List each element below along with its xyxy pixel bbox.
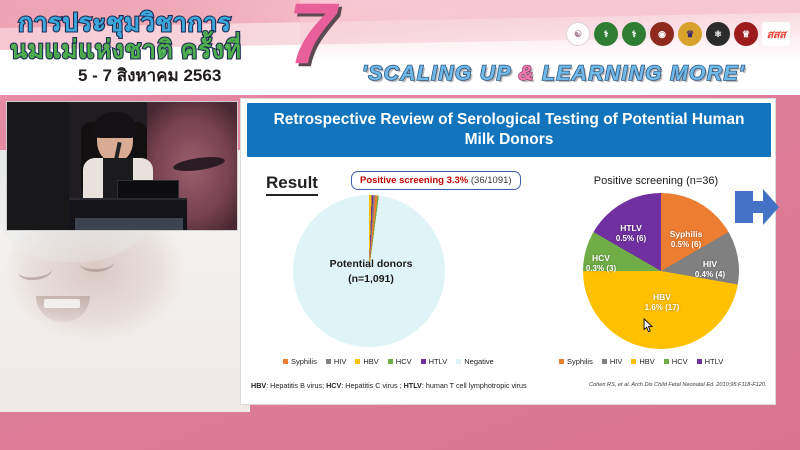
slice-value-hiv: 0.4% (4) [681, 270, 739, 281]
legend-swatch-right-hbv [631, 359, 636, 364]
pie-slice-label-hiv: HIV 0.4% (4) [681, 259, 739, 281]
legend-swatch-right-htlv [697, 359, 702, 364]
result-heading: Result [266, 173, 318, 196]
mouse-cursor-icon [643, 318, 654, 333]
legend-swatch-hiv [326, 359, 331, 364]
legend-left-item-negative: Negative [456, 357, 494, 366]
speaker-hair-top [93, 112, 137, 138]
legend-right-label-hcv: HCV [672, 357, 688, 366]
legend-right-item-hcv: HCV [664, 357, 688, 366]
conference-header-banner: การประชุมวิชาการ นมแม่แห่งชาติ ครั้งที่ … [0, 0, 800, 95]
legend-left-item-syphilis: Syphilis [283, 357, 317, 366]
legend-swatch-right-syphilis [559, 359, 564, 364]
legend-swatch-hcv [388, 359, 393, 364]
logo-ministry-of-public-health-2-icon: ⚕ [622, 22, 646, 46]
pie-slice-label-hbv: HBV 1.6% (17) [631, 292, 693, 314]
potential-donors-label-line1: Potential donors [271, 257, 471, 272]
podium-base [75, 218, 183, 231]
legend-right-label-hiv: HIV [610, 357, 623, 366]
sponsor-logo-row: ☯ ⚕ ⚕ ◉ ♛ ⚛ ♕ สสส [566, 22, 790, 46]
slice-value-hcv: 0.3% (3) [575, 264, 627, 275]
legend-left-label-hiv: HIV [334, 357, 347, 366]
positive-screening-pie-chart: Syphilis 0.5% (6) HIV 0.4% (4) HBV 1.6% … [559, 193, 759, 355]
tagline-pre: 'SCALING UP [362, 62, 518, 85]
slice-name-hiv: HIV [681, 259, 739, 270]
presentation-slide: Retrospective Review of Serological Test… [240, 98, 776, 405]
positive-screening-chart-heading: Positive screening (n=36) [541, 175, 771, 187]
logo-university-black-icon: ⚛ [706, 22, 730, 46]
reference-citation: Cohen RS, et al. Arch Dis Child Fetal Ne… [589, 382, 767, 388]
potential-donors-pie-chart: Potential donors (n=1,091) [271, 195, 471, 355]
slice-name-htlv: HTLV [603, 223, 659, 234]
legend-left-item-hiv: HIV [326, 357, 347, 366]
slice-name-hcv: HCV [575, 253, 627, 264]
legend-swatch-hbv [355, 359, 360, 364]
slice-value-hbv: 1.6% (17) [631, 303, 693, 314]
conference-edition-number: 7 [288, 0, 336, 77]
legend-swatch-right-hcv [664, 359, 669, 364]
legend-right-label-htlv: HTLV [705, 357, 724, 366]
legend-left-label-htlv: HTLV [429, 357, 448, 366]
footnote-abbr-htlv: HTLV [404, 381, 422, 390]
conference-date-thai: 5 - 7 สิงหาคม 2563 [78, 62, 221, 89]
speaker-video-panel[interactable] [6, 101, 238, 231]
potential-donors-center-label: Potential donors (n=1,091) [271, 257, 471, 287]
footnote-text-hcv: : Hepatitis C virus ; [341, 381, 403, 390]
potential-donors-label-line2: (n=1,091) [271, 272, 471, 287]
baby-teeth [44, 299, 80, 308]
legend-swatch-right-hiv [602, 359, 607, 364]
legend-left-item-htlv: HTLV [421, 357, 448, 366]
video-backdrop-left [7, 102, 69, 231]
legend-right-item-syphilis: Syphilis [559, 357, 593, 366]
legend-left-label-syphilis: Syphilis [291, 357, 317, 366]
callout-sub-text: (36/1091) [468, 175, 511, 186]
conference-tagline: 'SCALING UP & LEARNING MORE' [362, 62, 745, 86]
footnote-text-hbv: : Hepatitis B virus; [266, 381, 326, 390]
footnote-abbr-hbv: HBV [251, 381, 266, 390]
legend-left-label-hcv: HCV [396, 357, 412, 366]
legend-right-item-htlv: HTLV [697, 357, 724, 366]
baby-eye-right [80, 253, 115, 273]
footnote-abbr-hcv: HCV [326, 381, 341, 390]
abbreviation-footnote: HBV: Hepatitis B virus; HCV: Hepatitis C… [251, 381, 527, 390]
slide-title-bar: Retrospective Review of Serological Test… [247, 103, 771, 157]
legend-swatch-htlv [421, 359, 426, 364]
pie-slice-label-htlv: HTLV 0.5% (6) [603, 223, 659, 245]
callout-highlight-text: Positive screening 3.3% [360, 175, 468, 186]
slide-title: Retrospective Review of Serological Test… [247, 110, 771, 151]
positive-screening-callout: Positive screening 3.3% (36/1091) [351, 171, 521, 190]
legend-right: Syphilis HIV HBV HCV HTLV [559, 357, 723, 366]
logo-royal-emblem-red-icon: ◉ [650, 22, 674, 46]
logo-thai-pediatric-society-icon: ☯ [566, 22, 590, 46]
slice-name-hbv: HBV [631, 292, 693, 303]
legend-left-label-hbv: HBV [363, 357, 378, 366]
legend-right-label-hbv: HBV [639, 357, 654, 366]
slice-name-syphilis: Syphilis [655, 229, 717, 240]
footnote-text-htlv: : human T cell lymphotropic virus [422, 381, 527, 390]
baby-eye-left [17, 260, 53, 281]
legend-swatch-syphilis [283, 359, 288, 364]
legend-right-item-hbv: HBV [631, 357, 654, 366]
legend-left: Syphilis HIV HBV HCV HTLV Negative [283, 357, 494, 366]
video-overlay-face-eye [172, 154, 225, 173]
legend-left-item-hcv: HCV [388, 357, 412, 366]
logo-thaihealth-sss-icon: สสส [762, 22, 790, 46]
legend-left-label-negative: Negative [464, 357, 494, 366]
legend-right-item-hiv: HIV [602, 357, 623, 366]
legend-swatch-negative [456, 359, 461, 364]
slice-value-htlv: 0.5% (6) [603, 234, 659, 245]
logo-royal-crown-gold-icon: ♛ [678, 22, 702, 46]
legend-right-label-syphilis: Syphilis [567, 357, 593, 366]
pie-slice-label-syphilis: Syphilis 0.5% (6) [655, 229, 717, 251]
logo-ministry-of-public-health-1-icon: ⚕ [594, 22, 618, 46]
presentation-screenshot: การประชุมวิชาการ นมแม่แห่งชาติ ครั้งที่ … [0, 0, 800, 450]
tagline-ampersand: & [518, 62, 535, 85]
logo-garuda-red-icon: ♕ [734, 22, 758, 46]
slice-value-syphilis: 0.5% (6) [655, 240, 717, 251]
pie-slice-label-hcv: HCV 0.3% (3) [575, 253, 627, 275]
tagline-post: LEARNING MORE' [535, 62, 745, 85]
legend-left-item-hbv: HBV [355, 357, 378, 366]
